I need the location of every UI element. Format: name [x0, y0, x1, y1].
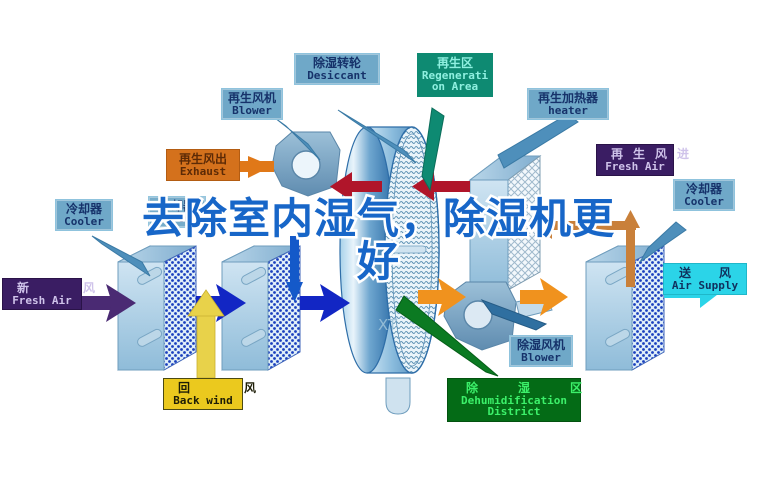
wheel-watermark: XT	[378, 316, 398, 334]
label-cooler-middle-en: Cooler	[152, 213, 202, 225]
label-fresh-air-cn: 新 风	[7, 282, 77, 295]
label-cooler-middle-cn: 冷却器	[152, 200, 202, 213]
label-cooler-right-cn: 冷却器	[677, 183, 731, 196]
diagram-canvas: XT	[0, 0, 757, 488]
label-desiccant-en: Desiccant	[299, 70, 375, 82]
label-dehum-blower-cn: 除湿风机	[514, 339, 568, 352]
label-back-wind-en: Back wind	[168, 395, 238, 407]
label-regen-blower-cn: 再生风机	[226, 92, 278, 105]
cooler-unit-left	[118, 246, 196, 370]
label-regen-fresh-air[interactable]: 再生风进 Fresh Air	[596, 144, 674, 176]
label-fresh-air[interactable]: 新 风 Fresh Air	[2, 278, 82, 310]
label-air-supply[interactable]: 送 风 Air Supply	[663, 263, 747, 295]
label-cooler-left[interactable]: 冷却器 Cooler	[55, 199, 113, 231]
label-cooler-right[interactable]: 冷却器 Cooler	[673, 179, 735, 211]
label-fresh-air-en: Fresh Air	[7, 295, 77, 307]
label-exhaust[interactable]: 再生风出 Exhaust	[166, 149, 240, 181]
label-air-supply-en: Air Supply	[668, 280, 742, 292]
label-back-wind-cn: 回 风	[168, 382, 238, 395]
label-air-supply-cn: 送 风	[668, 267, 742, 280]
label-regeneration-area-en2: on Area	[421, 81, 489, 93]
label-dehum-blower-en: Blower	[514, 352, 568, 364]
regeneration-blower-unit	[272, 132, 340, 196]
label-regen-heater-en: heater	[532, 105, 604, 117]
label-cooler-left-en: Cooler	[59, 216, 109, 228]
label-regen-fresh-air-cn: 再生风进	[601, 148, 669, 161]
label-dehum-district-cn: 除 湿 区	[452, 382, 576, 395]
label-cooler-left-cn: 冷却器	[59, 203, 109, 216]
label-regeneration-area[interactable]: 再生区 Regenerati on Area	[417, 53, 493, 97]
label-dehum-district-en2: District	[452, 406, 576, 418]
label-regen-fresh-air-en: Fresh Air	[601, 161, 669, 173]
label-regen-blower-en: Blower	[226, 105, 278, 117]
label-cooler-right-en: Cooler	[677, 196, 731, 208]
label-desiccant-cn: 除湿转轮	[299, 57, 375, 70]
label-cooler-middle[interactable]: 冷却器 Cooler	[148, 196, 206, 228]
label-dehum-blower[interactable]: 除湿风机 Blower	[509, 335, 573, 367]
label-desiccant[interactable]: 除湿转轮 Desiccant	[294, 53, 380, 85]
cooler-unit-right	[586, 246, 664, 370]
label-regen-blower[interactable]: 再生风机 Blower	[221, 88, 283, 120]
label-regen-heater[interactable]: 再生加热器 heater	[527, 88, 609, 120]
label-regen-heater-cn: 再生加热器	[532, 92, 604, 105]
label-exhaust-cn: 再生风出	[171, 153, 235, 166]
regeneration-heater-unit	[470, 156, 540, 290]
label-back-wind[interactable]: 回 风 Back wind	[163, 378, 243, 410]
label-dehumidification-district[interactable]: 除 湿 区 Dehumidification District	[447, 378, 581, 422]
label-exhaust-en: Exhaust	[171, 166, 235, 178]
label-regeneration-area-cn: 再生区	[421, 57, 489, 70]
